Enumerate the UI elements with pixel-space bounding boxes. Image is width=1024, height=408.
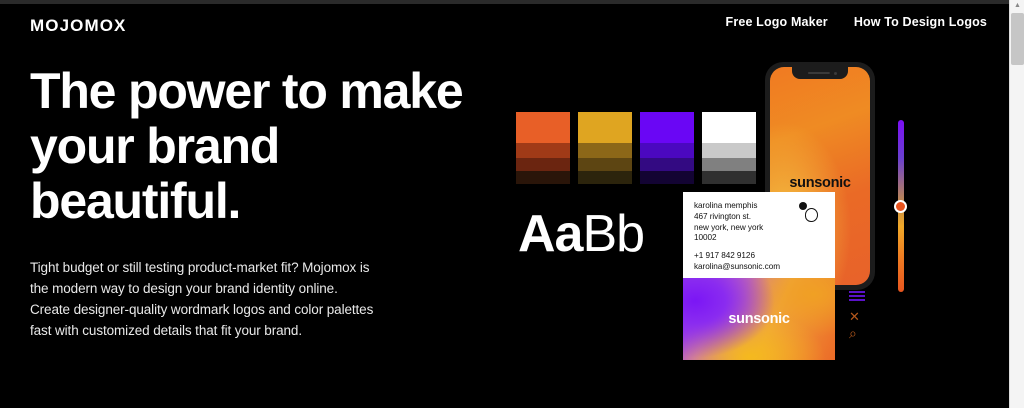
card-phone: +1 917 842 9126 bbox=[694, 251, 755, 260]
page-scrollbar[interactable]: ▲ bbox=[1009, 0, 1024, 408]
palette-band bbox=[578, 143, 632, 158]
card-zip: 10002 bbox=[694, 233, 717, 242]
logo-mark-ring bbox=[805, 208, 818, 222]
palette-band bbox=[516, 158, 570, 171]
type-specimen: AaBb bbox=[518, 208, 644, 260]
color-palette-group bbox=[516, 112, 756, 184]
palette-band bbox=[640, 143, 694, 158]
card-city: new york, new york bbox=[694, 223, 763, 232]
type-specimen-light: Bb bbox=[582, 205, 644, 263]
palette-band bbox=[516, 143, 570, 158]
palette-band bbox=[578, 112, 632, 143]
nav-link-free-logo-maker[interactable]: Free Logo Maker bbox=[726, 15, 828, 29]
sunsonic-logo-mark-icon bbox=[799, 202, 821, 224]
menu-line bbox=[849, 295, 865, 297]
main-navigation: Free Logo Maker How To Design Logos bbox=[726, 15, 987, 29]
nav-link-how-to-design-logos[interactable]: How To Design Logos bbox=[854, 15, 987, 29]
palette-swatch-orange[interactable] bbox=[516, 112, 570, 184]
palette-band bbox=[702, 112, 756, 143]
landing-page: MOJOMOX Free Logo Maker How To Design Lo… bbox=[0, 0, 1024, 408]
phone-brand-wordmark: sunsonic bbox=[770, 175, 870, 191]
palette-swatch-neutral[interactable] bbox=[702, 112, 756, 184]
logo-mark-dot bbox=[799, 202, 807, 210]
search-icon[interactable]: ⌕ bbox=[849, 326, 857, 340]
palette-band bbox=[578, 158, 632, 171]
card-spacer bbox=[694, 244, 824, 251]
site-header: MOJOMOX Free Logo Maker How To Design Lo… bbox=[0, 0, 1009, 48]
scrollbar-thumb[interactable] bbox=[1011, 13, 1024, 65]
palette-swatch-violet[interactable] bbox=[640, 112, 694, 184]
palette-band bbox=[578, 171, 632, 184]
menu-line bbox=[849, 299, 865, 301]
card-email: karolina@sunsonic.com bbox=[694, 262, 780, 271]
phone-camera-icon bbox=[834, 72, 837, 75]
card-name: karolina memphis bbox=[694, 201, 757, 210]
menu-line bbox=[849, 291, 865, 293]
palette-band bbox=[640, 158, 694, 171]
phone-speaker-icon bbox=[808, 72, 830, 74]
gradient-card-wordmark: sunsonic bbox=[683, 311, 835, 327]
palette-band bbox=[702, 143, 756, 158]
gradient-slider-handle[interactable] bbox=[894, 200, 907, 213]
menu-lines-icon[interactable] bbox=[849, 291, 865, 303]
palette-band bbox=[516, 112, 570, 143]
palette-band bbox=[702, 171, 756, 184]
palette-swatch-gold[interactable] bbox=[578, 112, 632, 184]
hero-body-text: Tight budget or still testing product-ma… bbox=[30, 258, 375, 342]
scroll-up-arrow-icon[interactable]: ▲ bbox=[1010, 0, 1024, 12]
palette-band bbox=[640, 112, 694, 143]
business-card-back: sunsonic bbox=[683, 278, 835, 360]
card-street: 467 rivington st. bbox=[694, 212, 751, 221]
business-card-front: karolina memphis 467 rivington st. new y… bbox=[683, 192, 835, 278]
palette-band bbox=[702, 158, 756, 171]
close-icon[interactable]: ✕ bbox=[849, 310, 860, 323]
type-specimen-bold: Aa bbox=[518, 205, 582, 263]
palette-band bbox=[640, 171, 694, 184]
hero-headline: The power to make your brand beautiful. bbox=[30, 64, 480, 229]
brand-logo[interactable]: MOJOMOX bbox=[30, 16, 127, 36]
palette-band bbox=[516, 171, 570, 184]
